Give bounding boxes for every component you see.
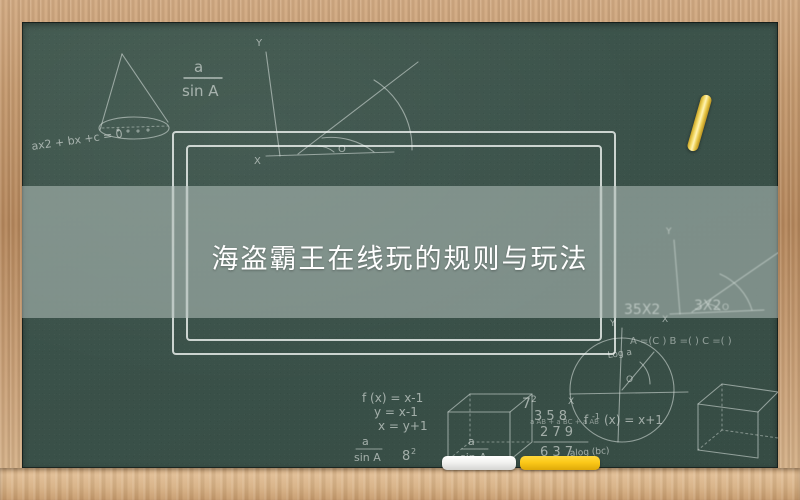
sine-numerator: a <box>194 58 203 76</box>
fx-line-3: x = y+1 <box>378 419 428 433</box>
chalkboard-surface: a sin A ax2 + bx +c = 0 Y X O <box>22 22 778 468</box>
yellow-chalk-piece <box>520 456 600 470</box>
sine-denominator: sin A <box>182 82 219 100</box>
frame-left-wood <box>0 0 22 500</box>
frame-right-wood <box>778 0 800 500</box>
abc-expression: a AB + a BC + a AB <box>530 418 599 426</box>
axis-y-label-top: Y <box>255 38 263 49</box>
sine3-numerator: a <box>468 435 475 448</box>
sine2-numerator: a <box>362 435 369 448</box>
cube-drawing-left <box>448 394 532 460</box>
chalk-ledge <box>0 468 800 500</box>
power-seven: 7 2 <box>522 395 537 412</box>
function-equations: f (x) = x-1 y = x-1 x = y+1 <box>362 391 428 433</box>
inverse-rest: (x) = x+1 <box>604 413 663 427</box>
sum-mid-row: 2 7 9 <box>540 425 573 440</box>
sine2-denominator: sin A <box>354 451 381 464</box>
quadratic-equation: ax2 + bx +c = 0 <box>31 127 124 153</box>
fx-line-2: y = x-1 <box>374 405 418 419</box>
white-chalk-piece <box>442 456 516 470</box>
blackboard-frame: a sin A ax2 + bx +c = 0 Y X O <box>0 0 800 500</box>
page-title: 海盗霸王在线玩的规则与玩法 <box>22 234 778 278</box>
cube-drawing-right <box>698 384 778 458</box>
fx-line-1: f (x) = x-1 <box>362 391 423 405</box>
inverse-f: f <box>584 413 589 427</box>
power-seven-exponent: 2 <box>531 395 537 405</box>
sine-rule-top-left: a sin A <box>182 58 222 100</box>
angle-label-right: O <box>626 375 633 385</box>
sum-top-row: 3 5 8 <box>534 409 567 424</box>
axis-x-label-right: X <box>568 397 574 407</box>
addition-sum: 3 5 8 2 7 9 6 3 7 <box>534 409 588 460</box>
inverse-exponent: -1 <box>592 412 600 421</box>
power-eight-base: 8 <box>402 449 410 464</box>
inverse-function: f -1 (x) = x+1 <box>584 412 663 427</box>
power-eight-exponent: 2 <box>411 447 416 456</box>
power-seven-base: 7 <box>522 396 531 412</box>
sine-rule-bottom-1: a sin A <box>354 435 382 464</box>
power-eight: 8 2 <box>402 447 416 464</box>
set-notation: A =(C ) B =( ) C =( ) <box>630 336 732 347</box>
yellow-chalk-stick-icon <box>686 94 713 153</box>
cone-drawing <box>99 54 169 139</box>
